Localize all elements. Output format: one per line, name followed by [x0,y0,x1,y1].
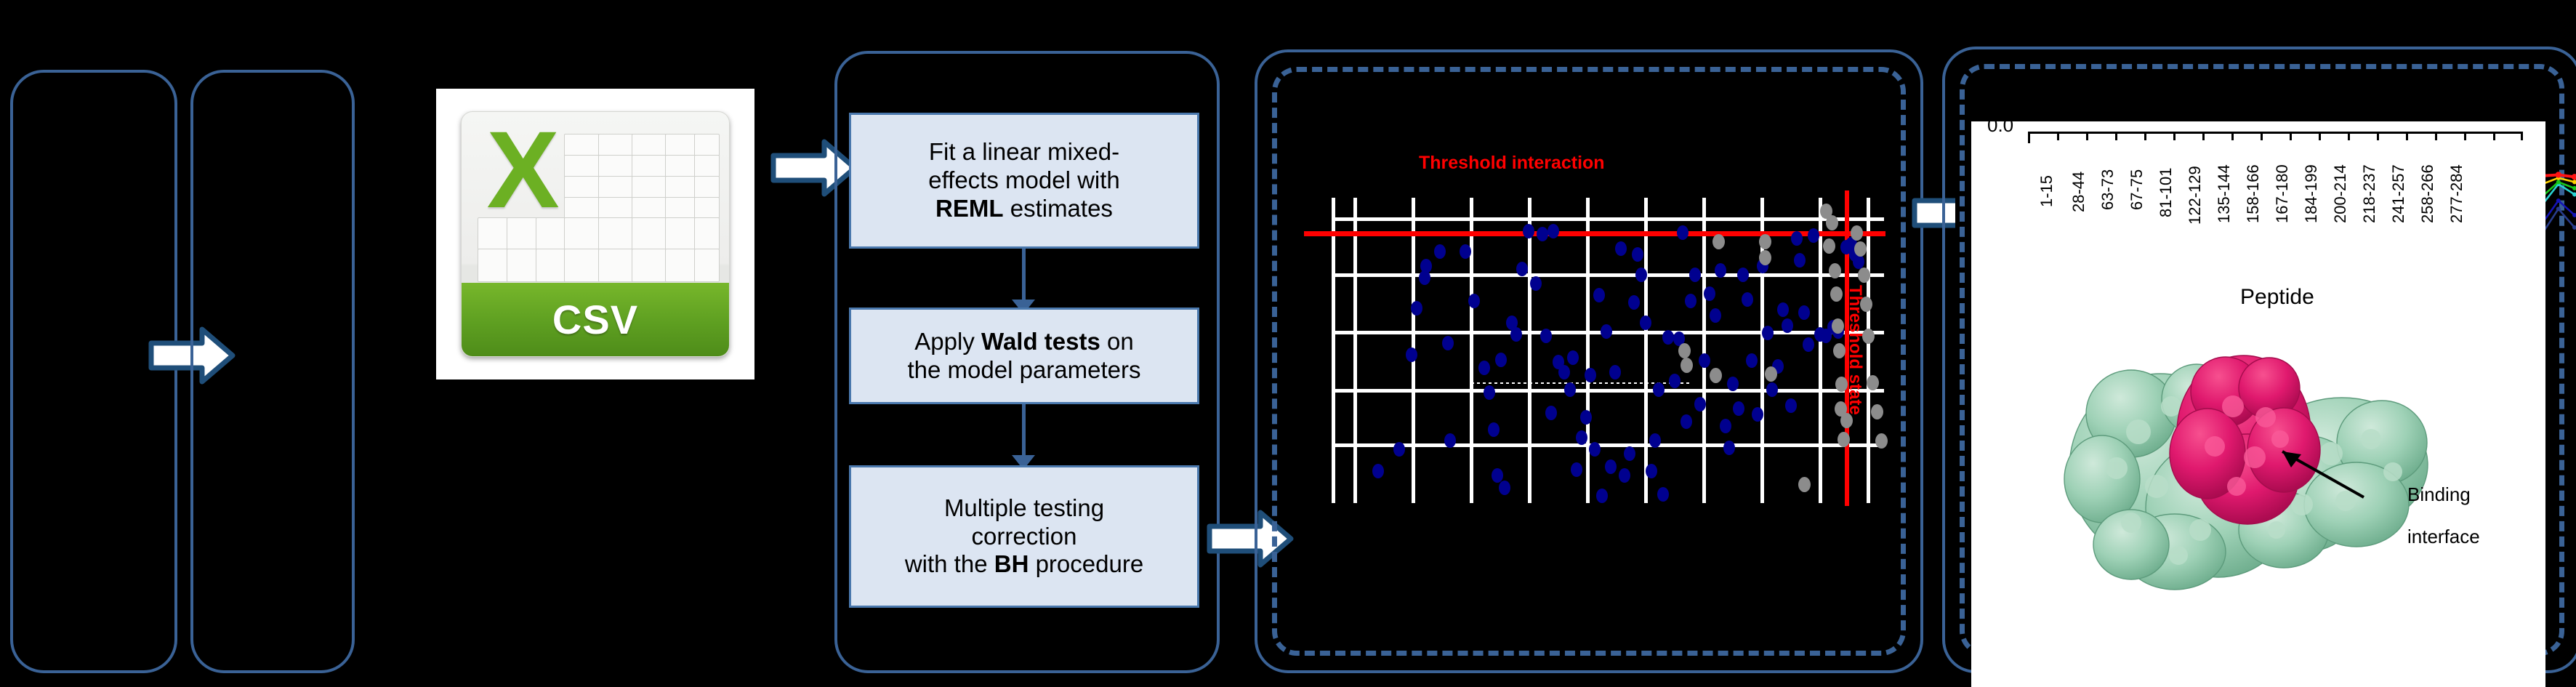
x-axis-line [2028,132,2522,134]
peptide-tick-0: 1-15 [2037,175,2056,207]
step-bh-box[interactable]: Multiple testing correction with the BH … [849,465,1199,608]
results-figure-card: 0.0 1-15 28-44 63-73 67-75 81-101 122-12… [1971,121,2545,687]
connector-wald-bh [1022,404,1026,459]
peptide-tick-11: 218-237 [2360,164,2379,223]
step-wald-box[interactable]: Apply Wald tests on the model parameters [849,308,1199,404]
peptide-tick-2: 63-73 [2098,169,2117,210]
csv-extension-label: CSV [552,296,638,343]
volcano-plot: Threshold interaction Threshold state [1276,142,1903,506]
step-reml-box[interactable]: Fit a linear mixed- effects model with R… [849,113,1199,249]
peptide-tick-8: 167-180 [2273,164,2292,223]
peptide-tick-10: 200-214 [2331,164,2350,223]
peptide-tick-7: 158-166 [2244,164,2263,223]
peptide-tick-9: 184-199 [2302,164,2321,223]
x-axis-label: Peptide [2240,285,2314,310]
csv-file-icon[interactable]: X CSV [436,89,754,379]
peptide-tick-12: 241-257 [2389,164,2408,223]
binding-annotation-line2: interface [2407,526,2480,547]
csv-extension-band: CSV [462,283,729,356]
protein-structure-image [2051,312,2458,617]
volcano-title: Threshold interaction [1419,153,1605,174]
peptide-tick-5: 122-129 [2186,166,2205,225]
step-wald-text: Apply Wald tests on the model parameters [908,328,1141,385]
y-tick-label: 0.0 [1987,121,2013,137]
connector-reml-wald [1022,249,1026,304]
data-panel [190,70,355,673]
peptide-tick-14: 277-284 [2447,164,2466,223]
peptide-tick-4: 81-101 [2157,167,2175,217]
binding-interface-annotation: Binding interface [2407,463,2480,569]
peptide-tick-1: 28-44 [2069,172,2088,212]
peptide-tick-13: 258-266 [2418,164,2437,223]
binding-annotation-line1: Binding [2407,484,2480,505]
workflow-diagram: X CSV Fit a linear mixed- effects model … [0,0,2576,687]
csv-icon-body: X CSV [461,111,730,357]
step-reml-text: Fit a linear mixed- effects model with R… [928,138,1120,223]
excel-x-letter: X [467,114,579,224]
step-bh-text: Multiple testing correction with the BH … [905,494,1143,579]
peptide-tick-6: 135-144 [2215,164,2234,223]
peptide-tick-3: 67-75 [2128,169,2146,210]
